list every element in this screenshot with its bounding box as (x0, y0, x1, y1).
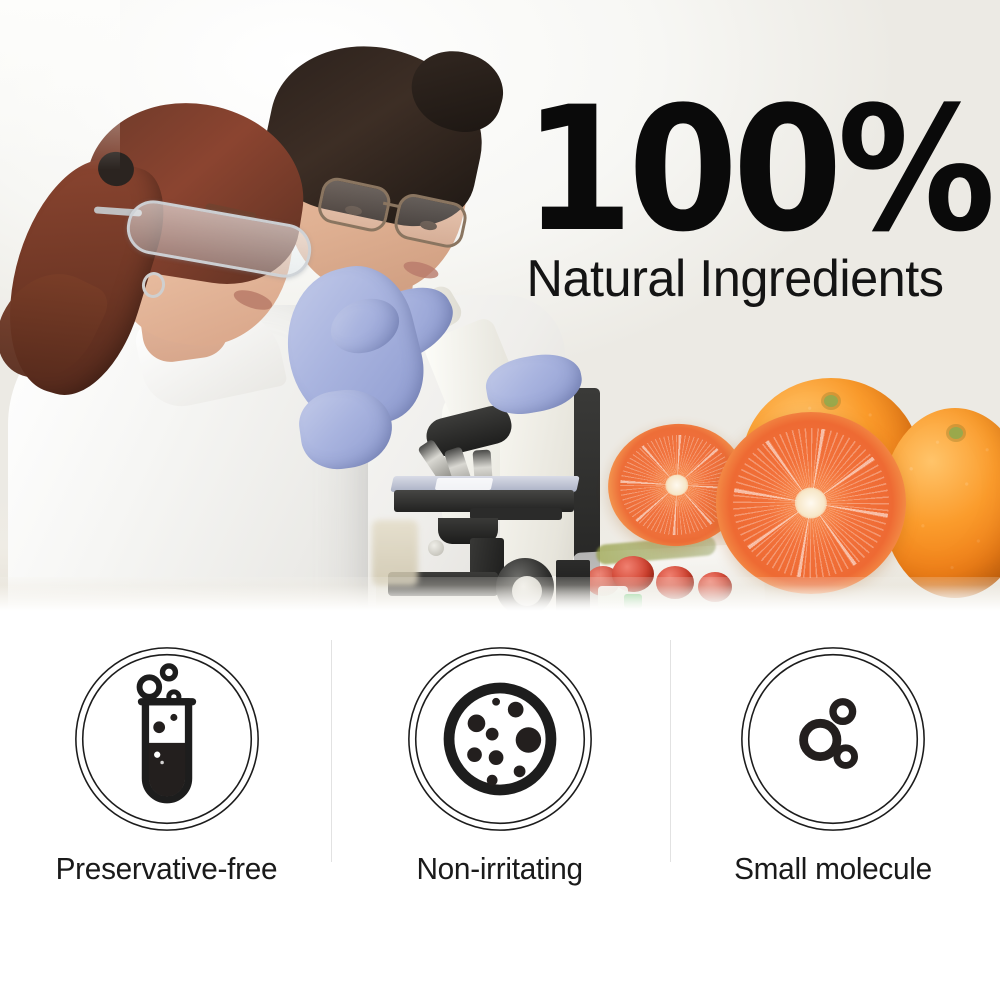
product-feature-banner: 100% Natural Ingredients (0, 0, 1000, 1000)
microscope-slide (435, 478, 494, 490)
laboratory-photo (0, 0, 1000, 613)
feature-small-molecule: Small molecule (667, 613, 1000, 1000)
test-tube-bubbles-icon (69, 641, 265, 837)
photo-bottom-fade (0, 585, 1000, 613)
feature-label: Small molecule (734, 851, 932, 887)
halved-orange-front (716, 412, 906, 594)
stage-adjust-knob (428, 540, 444, 556)
feature-label: Preservative-free (56, 851, 278, 887)
photo-highlight-fade (0, 0, 120, 170)
feature-row: Preservative-free (0, 613, 1000, 1000)
feature-non-irritating: Non-irritating (333, 613, 666, 1000)
feature-label: Non-irritating (417, 851, 583, 887)
orange-core (795, 488, 827, 519)
molecule-rings-icon (735, 641, 931, 837)
feature-preservative-free: Preservative-free (0, 613, 333, 1000)
orange-stem (824, 395, 838, 407)
hero-photo-section: 100% Natural Ingredients (0, 0, 1000, 613)
petri-dish-dots-icon (402, 641, 598, 837)
